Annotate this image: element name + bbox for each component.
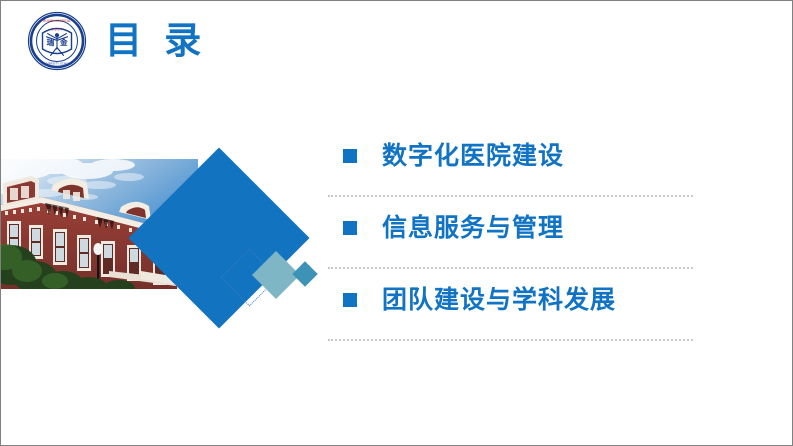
table-of-contents: 数字化医院建设 信息服务与管理 团队建设与学科发展 xyxy=(328,125,693,341)
presentation-slide: RUIJIN HOSPITAL UNIVERSITY SCHOOL 1 9 0 … xyxy=(0,0,793,446)
square-bullet-icon xyxy=(343,293,357,307)
decorative-graphic-group xyxy=(1,156,331,336)
svg-text:金: 金 xyxy=(59,37,68,47)
page-title: 目 录 xyxy=(105,18,207,64)
toc-item-label: 团队建设与学科发展 xyxy=(382,284,616,316)
ruijin-hospital-emblem-icon: RUIJIN HOSPITAL UNIVERSITY SCHOOL 1 9 0 … xyxy=(27,11,87,71)
svg-text:UNIVERSITY SCHOOL: UNIVERSITY SCHOOL xyxy=(41,61,73,65)
square-bullet-icon xyxy=(343,221,357,235)
toc-item-label: 信息服务与管理 xyxy=(382,212,564,244)
toc-item-2[interactable]: 信息服务与管理 xyxy=(328,197,693,269)
square-bullet-icon xyxy=(343,149,357,163)
toc-item-1[interactable]: 数字化医院建设 xyxy=(328,125,693,197)
toc-item-3[interactable]: 团队建设与学科发展 xyxy=(328,269,693,341)
toc-item-label: 数字化医院建设 xyxy=(382,140,564,172)
svg-text:1 9 0 7: 1 9 0 7 xyxy=(51,28,62,32)
toc-divider xyxy=(328,339,693,341)
svg-text:瑞: 瑞 xyxy=(47,37,55,47)
diamond-small-shape xyxy=(292,261,317,286)
svg-text:RUIJIN HOSPITAL: RUIJIN HOSPITAL xyxy=(43,19,71,23)
slide-header: RUIJIN HOSPITAL UNIVERSITY SCHOOL 1 9 0 … xyxy=(1,1,793,93)
